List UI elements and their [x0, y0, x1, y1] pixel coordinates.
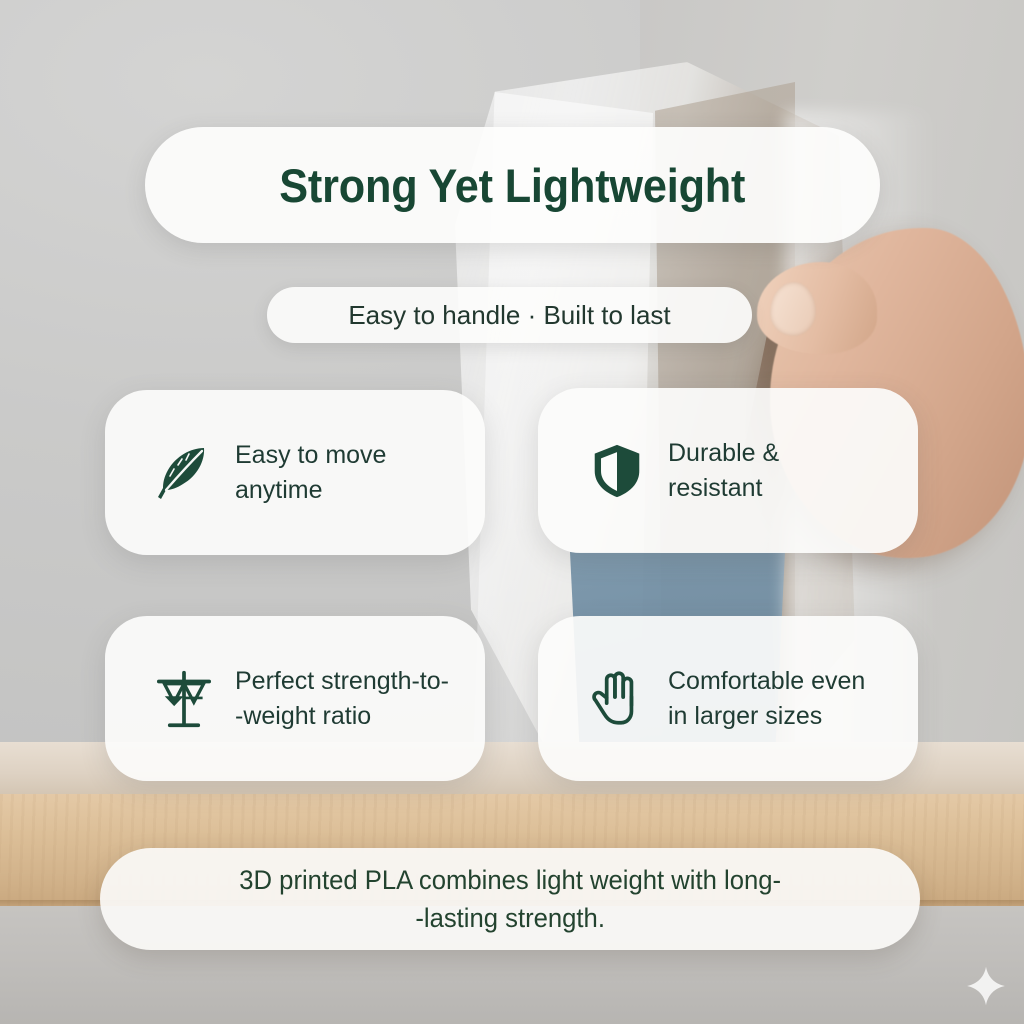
feather-icon	[147, 436, 221, 510]
feature-card-label: Easy to move anytime	[235, 438, 386, 507]
poster-canvas: Strong Yet Lightweight Easy to handle · …	[0, 0, 1024, 1024]
thumbnail-nail	[770, 282, 816, 336]
shield-icon	[580, 434, 654, 508]
feature-card-easy-to-move[interactable]: Easy to move anytime	[105, 390, 485, 555]
feature-line-1: Easy to move	[235, 441, 386, 469]
feature-line-2: anytime	[235, 473, 386, 508]
feature-card-strength-to-weight[interactable]: Perfect strength-to- -weight ratio	[105, 616, 485, 781]
feature-line-2: in larger sizes	[668, 699, 865, 734]
sparkle-icon	[964, 964, 1008, 1008]
open-hand-icon	[580, 662, 654, 736]
subtitle-pill: Easy to handle · Built to last	[267, 287, 752, 343]
feature-card-comfortable[interactable]: Comfortable even in larger sizes	[538, 616, 918, 781]
feature-line-1: Comfortable even	[668, 667, 865, 695]
footer-line-2: -lasting strength.	[239, 899, 781, 937]
feature-card-durable[interactable]: Durable & resistant	[538, 388, 918, 553]
footer-line-1: 3D printed PLA combines light weight wit…	[239, 865, 781, 895]
page-title: Strong Yet Lightweight	[280, 158, 746, 213]
title-pill: Strong Yet Lightweight	[145, 127, 880, 243]
footer-banner: 3D printed PLA combines light weight wit…	[100, 848, 920, 950]
feature-card-label: Durable & resistant	[668, 436, 779, 505]
feature-card-label: Comfortable even in larger sizes	[668, 664, 865, 733]
balance-scales-icon	[147, 662, 221, 736]
feature-line-1: Perfect strength-to-	[235, 667, 449, 695]
footer-text: 3D printed PLA combines light weight wit…	[239, 861, 781, 938]
feature-line-2: resistant	[668, 471, 779, 506]
page-subtitle: Easy to handle · Built to last	[348, 300, 670, 331]
feature-line-2: -weight ratio	[235, 699, 449, 734]
feature-card-label: Perfect strength-to- -weight ratio	[235, 664, 449, 733]
feature-line-1: Durable &	[668, 439, 779, 467]
